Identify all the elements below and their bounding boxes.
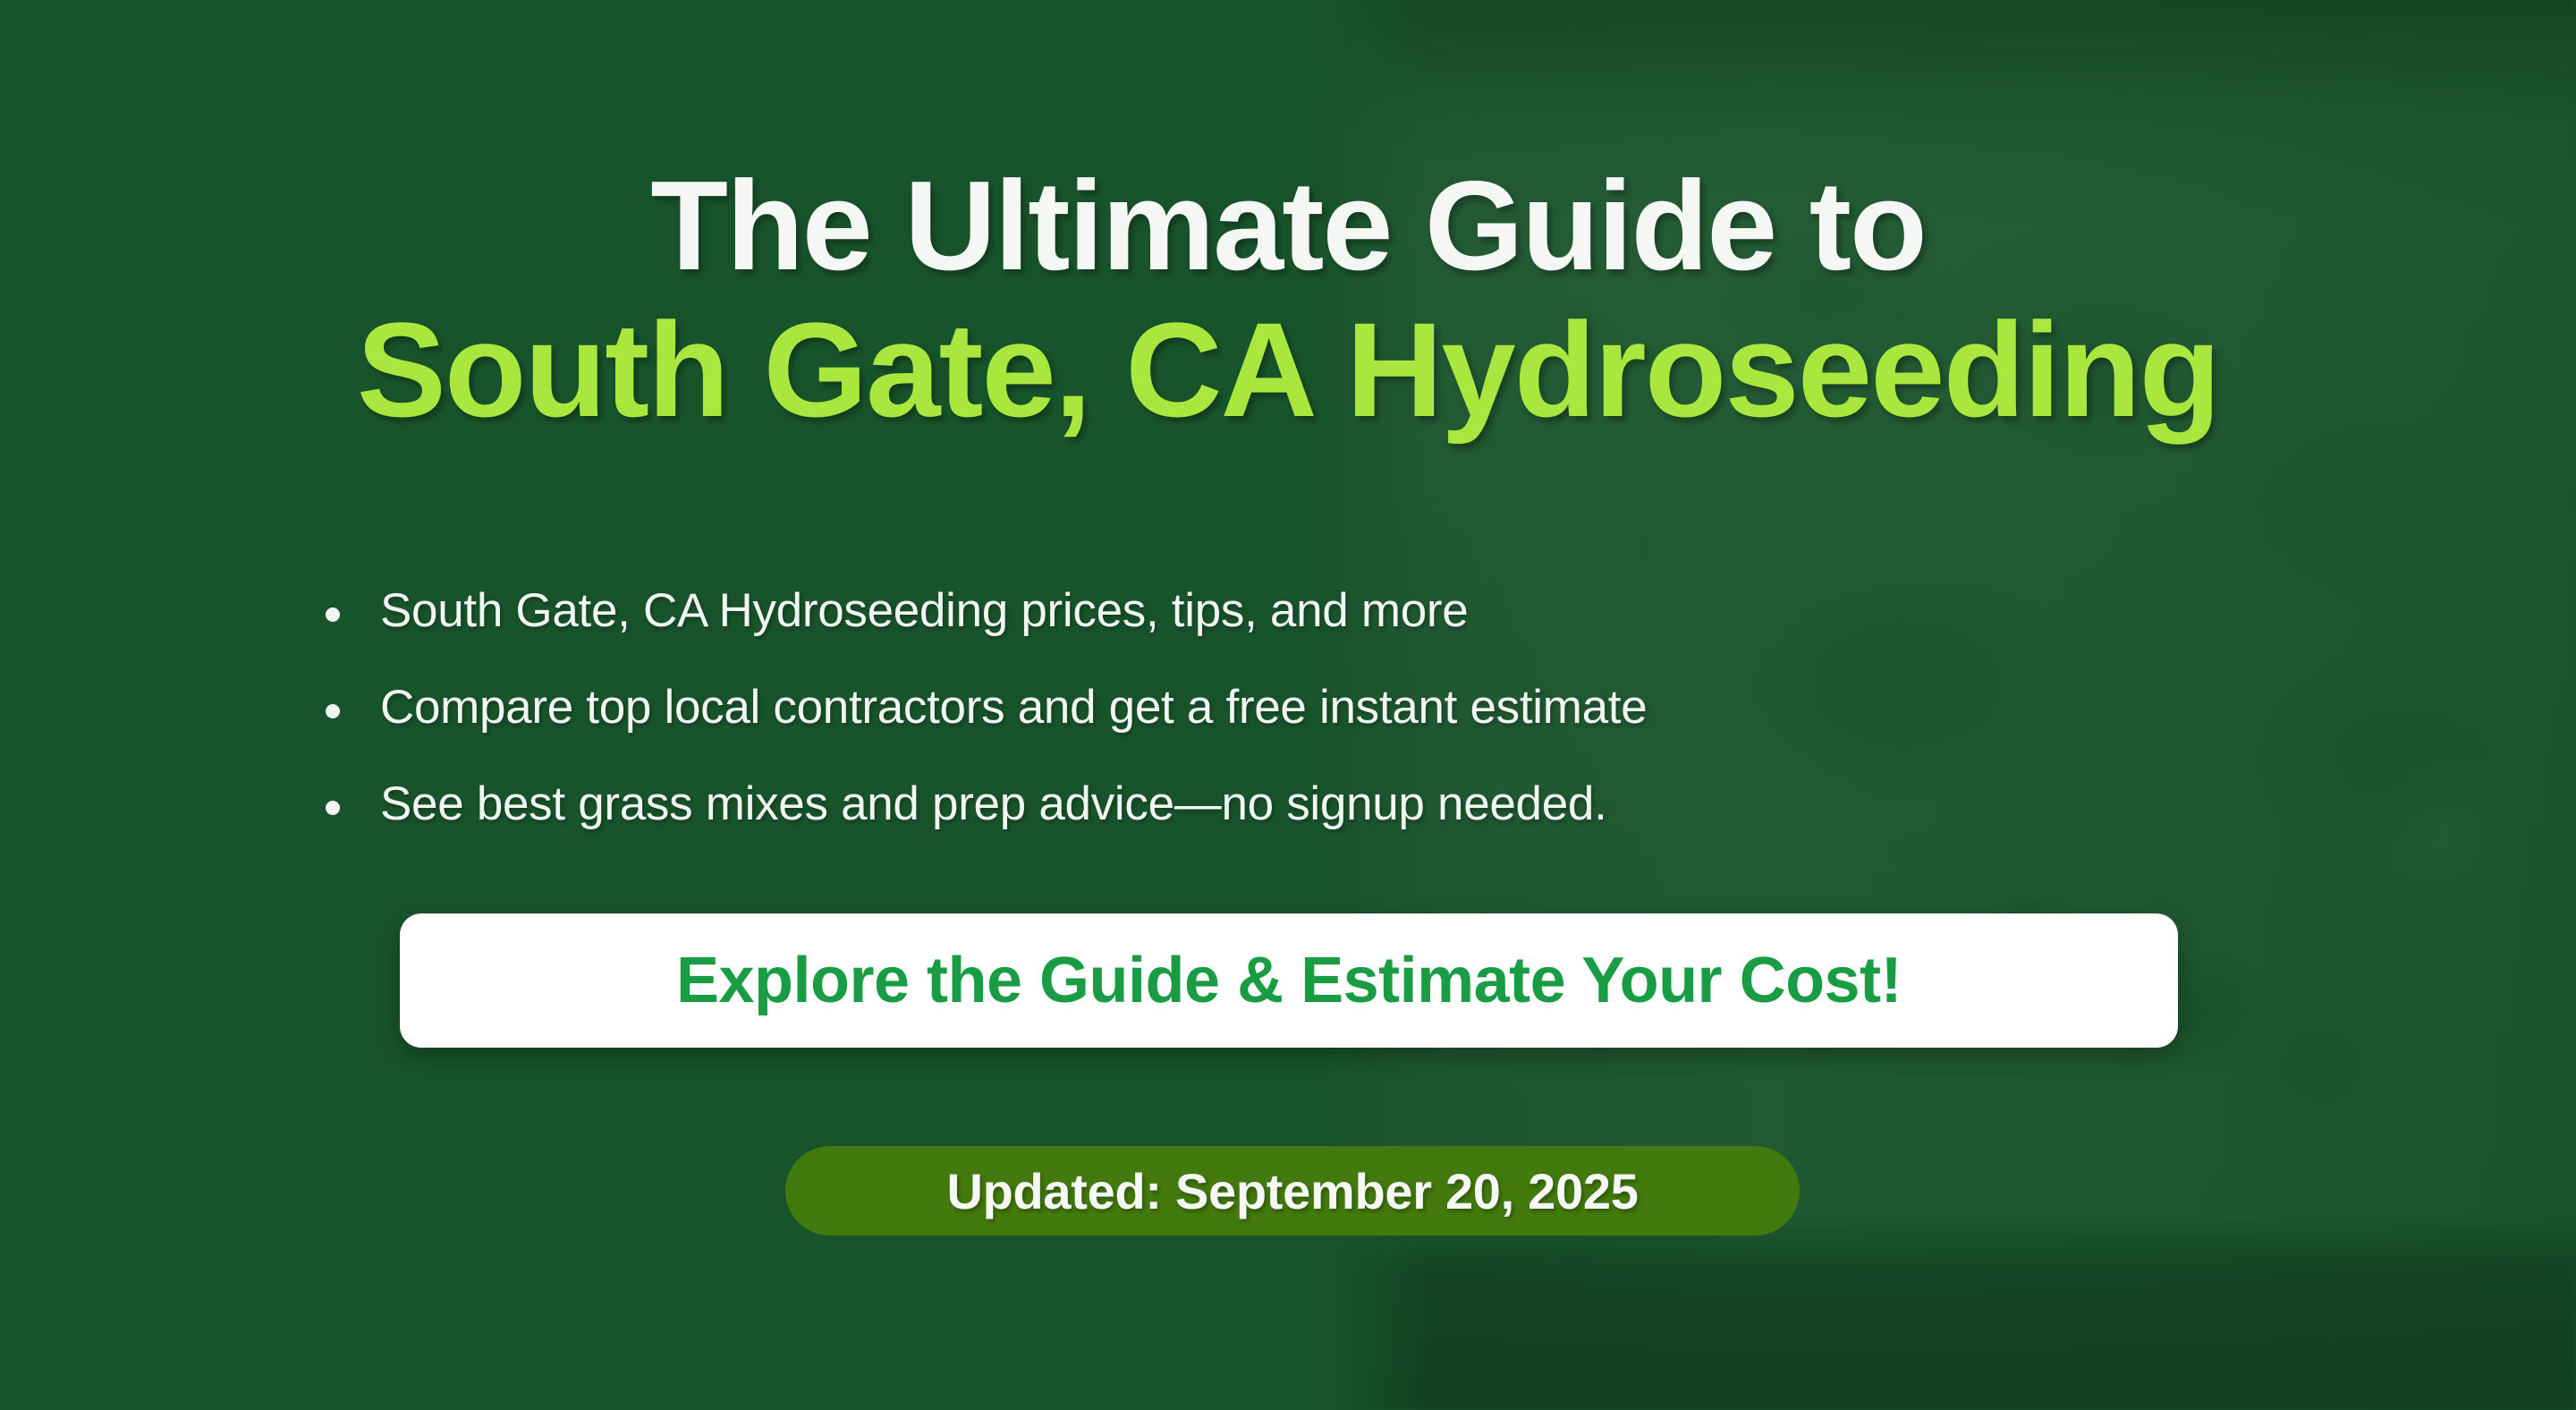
- bullet-dot-icon: [326, 607, 340, 622]
- list-item-label: See best grass mixes and prep advice—no …: [380, 777, 1607, 830]
- hero-banner: The Ultimate Guide to South Gate, CA Hyd…: [0, 0, 2576, 1410]
- hero-content: The Ultimate Guide to South Gate, CA Hyd…: [0, 0, 2576, 1410]
- list-item: Compare top local contractors and get a …: [315, 683, 1647, 733]
- benefit-list: South Gate, CA Hydroseeding prices, tips…: [315, 586, 1647, 877]
- page-title: The Ultimate Guide to South Gate, CA Hyd…: [0, 163, 2576, 437]
- explore-guide-cta-button[interactable]: Explore the Guide & Estimate Your Cost!: [400, 913, 2178, 1048]
- bullet-dot-icon: [326, 704, 340, 718]
- list-item: See best grass mixes and prep advice—no …: [315, 779, 1647, 829]
- updated-date-badge: Updated: September 20, 2025: [785, 1146, 1800, 1236]
- list-item-label: South Gate, CA Hydroseeding prices, tips…: [380, 584, 1468, 637]
- list-item: South Gate, CA Hydroseeding prices, tips…: [315, 586, 1647, 636]
- list-item-label: Compare top local contractors and get a …: [380, 681, 1647, 734]
- title-line-2: South Gate, CA Hydroseeding: [0, 302, 2576, 437]
- title-line-1: The Ultimate Guide to: [0, 163, 2576, 290]
- bullet-dot-icon: [326, 801, 340, 815]
